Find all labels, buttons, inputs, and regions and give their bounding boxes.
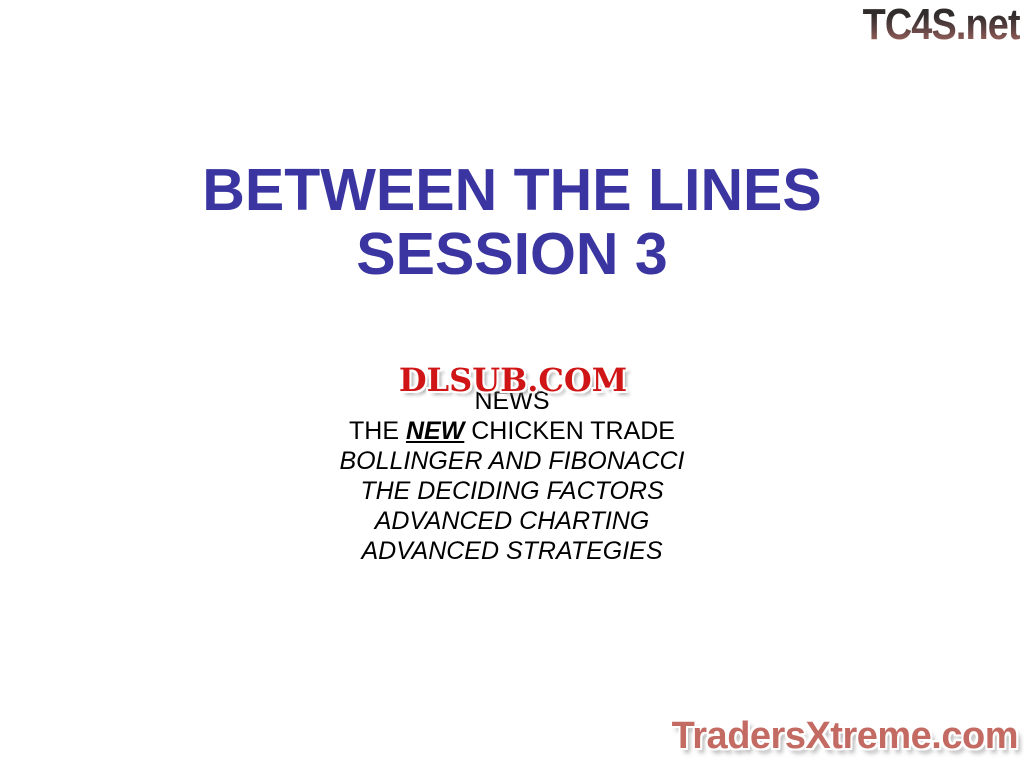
slide-canvas: TC4S.net BETWEEN THE LINES SESSION 3 NEW… (0, 0, 1024, 768)
agenda-item-advanced-charting: ADVANCED CHARTING (0, 506, 1024, 536)
agenda-item-chicken-trade: THE NEW CHICKEN TRADE (0, 416, 1024, 446)
agenda-item-bollinger-fibonacci: BOLLINGER AND FIBONACCI (0, 446, 1024, 476)
page-title: BETWEEN THE LINES SESSION 3 (0, 158, 1024, 286)
dlsub-watermark: DLSUB.COM (368, 360, 658, 400)
agenda-item-deciding-factors: THE DECIDING FACTORS (0, 476, 1024, 506)
title-line-2: SESSION 3 (0, 222, 1024, 286)
tc4s-site-logo[interactable]: TC4S.net (863, 2, 1020, 48)
title-line-1: BETWEEN THE LINES (0, 158, 1024, 222)
agenda-item-keyword-new: NEW (406, 417, 464, 445)
agenda-item-advanced-strategies: ADVANCED STRATEGIES (0, 536, 1024, 566)
agenda-list: NEWS THE NEW CHICKEN TRADE BOLLINGER AND… (0, 386, 1024, 566)
agenda-item-prefix: THE (349, 417, 406, 445)
tradersxtreme-footer-logo[interactable]: TradersXtreme.com (672, 716, 1018, 756)
agenda-item-suffix: CHICKEN TRADE (464, 417, 675, 445)
